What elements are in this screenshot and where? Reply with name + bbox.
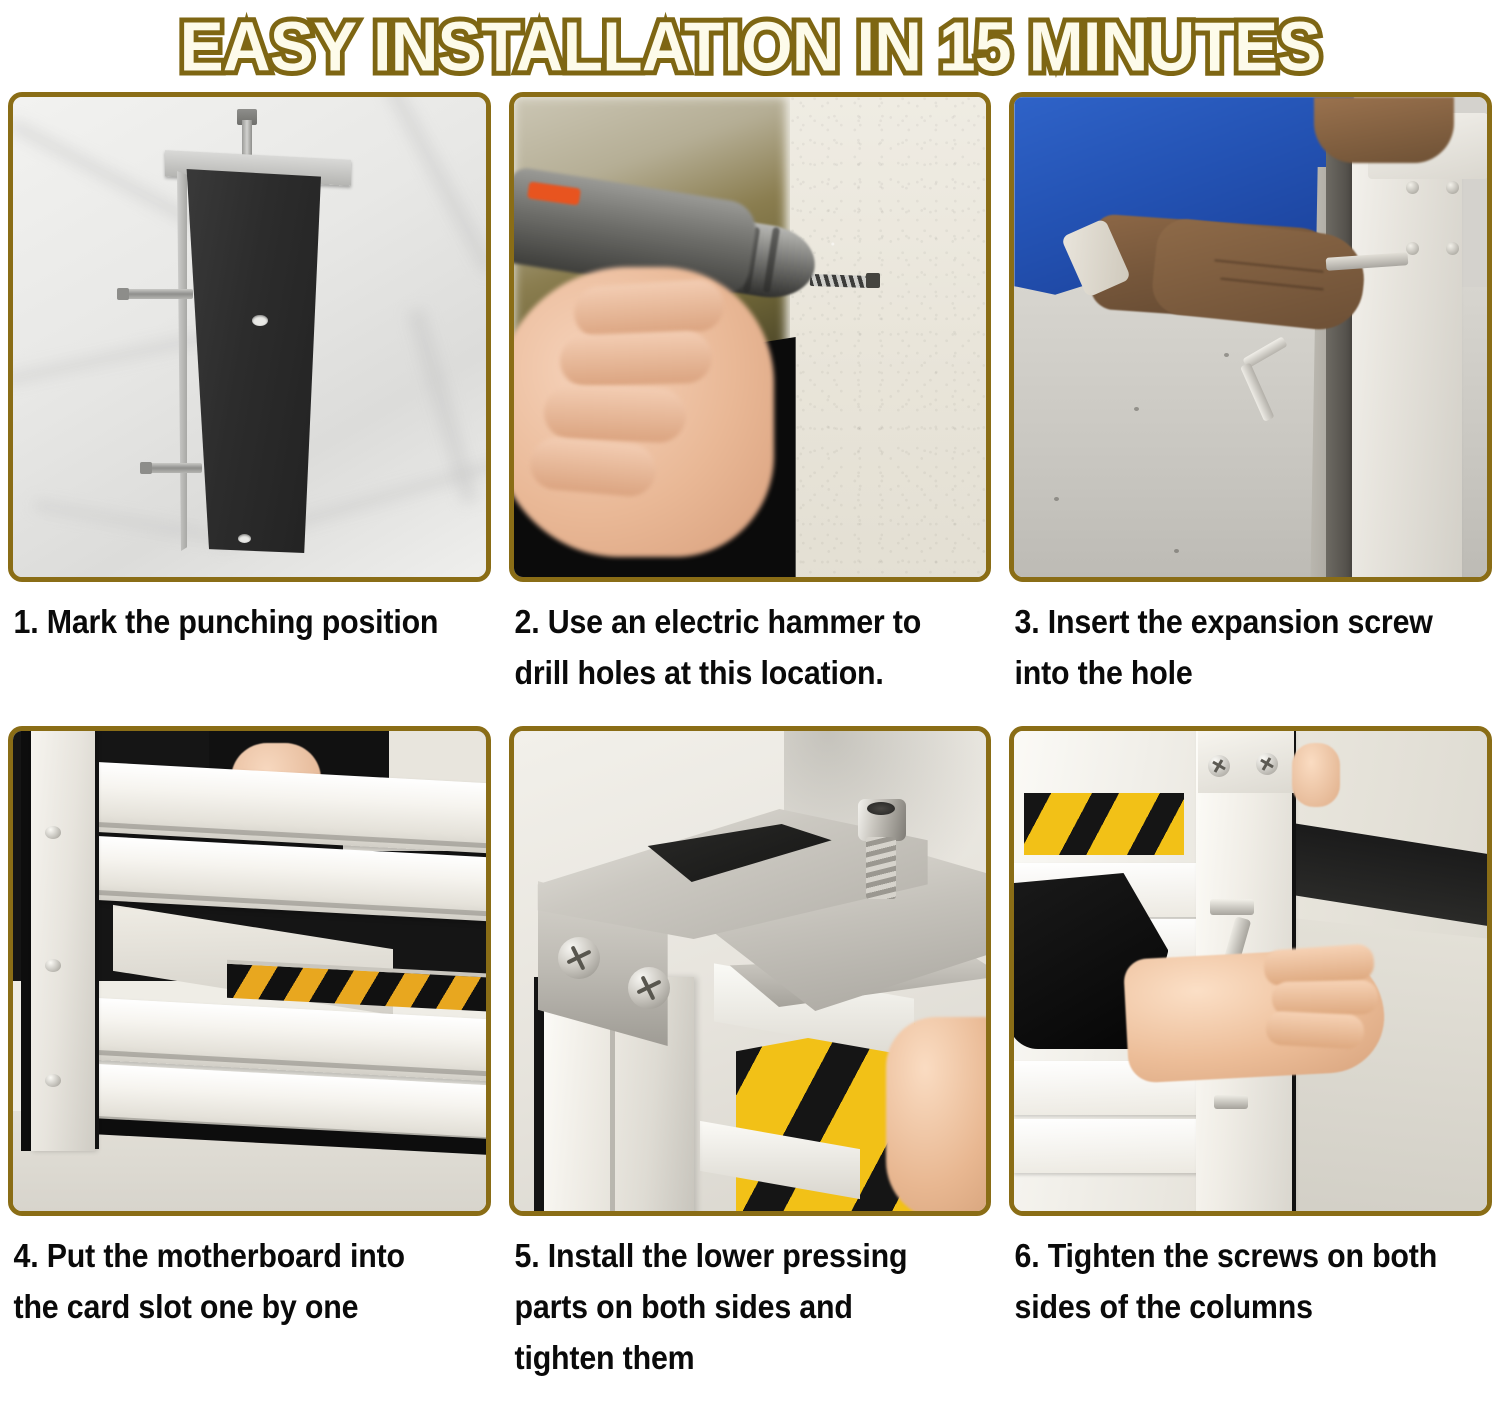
step-photo-6 (1014, 731, 1487, 1211)
step-caption-2: 2. Use an electric hammer to drill holes… (509, 582, 953, 726)
step-caption-5: 5. Install the lower pressing parts on b… (509, 1216, 953, 1366)
step-card-2: 2. Use an electric hammer to drill holes… (509, 92, 992, 726)
hazard-stripe (1024, 793, 1184, 855)
step-photo-2 (514, 97, 987, 577)
header-banner: EASY INSTALLATION IN 15 MINUTES (0, 0, 1500, 92)
step-photo-5 (514, 731, 987, 1211)
step-caption-1: 1. Mark the punching position (8, 582, 452, 726)
step-caption-6: 6. Tighten the screws on both sides of t… (1009, 1216, 1453, 1366)
page-title: EASY INSTALLATION IN 15 MINUTES (179, 7, 1320, 87)
base-plate (181, 169, 321, 553)
steps-grid: 1. Mark the punching position 2. Use an … (0, 92, 1500, 1366)
column-post (1352, 129, 1462, 577)
mounting-pin (123, 289, 193, 299)
step-photo-frame-2 (509, 92, 992, 582)
step-card-1: 1. Mark the punching position (8, 92, 491, 726)
step-photo-frame-5 (509, 726, 992, 1216)
step-photo-4 (13, 731, 486, 1211)
step-card-5: 5. Install the lower pressing parts on b… (509, 726, 992, 1366)
step-card-4: 4. Put the motherboard into the card slo… (8, 726, 491, 1366)
step-caption-4: 4. Put the motherboard into the card slo… (8, 1216, 452, 1366)
step-card-3: 3. Insert the expansion screw into the h… (1009, 92, 1492, 726)
step-photo-frame-4 (8, 726, 491, 1216)
column-slot (31, 731, 95, 1151)
step-photo-1 (13, 97, 486, 577)
wall-surface (790, 97, 987, 577)
phillips-screw-icon (628, 967, 670, 1009)
knurled-bolt (858, 799, 906, 891)
step-photo-frame-1 (8, 92, 491, 582)
step-photo-frame-6 (1009, 726, 1492, 1216)
step-card-6: 6. Tighten the screws on both sides of t… (1009, 726, 1492, 1366)
step-photo-3 (1014, 97, 1487, 577)
phillips-screw-icon (558, 937, 600, 979)
hand (886, 1017, 987, 1211)
step-caption-3: 3. Insert the expansion screw into the h… (1009, 582, 1453, 726)
step-photo-frame-3 (1009, 92, 1492, 582)
mounting-pin (146, 463, 202, 473)
